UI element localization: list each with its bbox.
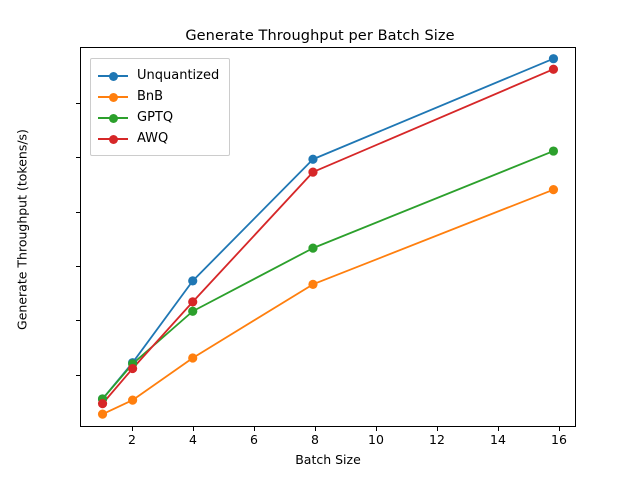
data-point-marker <box>549 185 558 194</box>
x-tick-mark <box>376 427 377 431</box>
series-line <box>103 151 554 399</box>
legend-label: Unquantized <box>137 68 219 83</box>
x-tick-mark <box>498 427 499 431</box>
legend-marker-icon <box>98 132 128 146</box>
data-point-marker <box>549 54 558 63</box>
x-tick-label: 12 <box>417 432 457 447</box>
legend-item[interactable]: GPTQ <box>98 107 219 128</box>
legend-marker-icon <box>98 69 128 83</box>
legend-label: GPTQ <box>137 110 173 125</box>
data-point-marker <box>188 297 197 306</box>
data-point-marker <box>98 399 107 408</box>
data-point-marker <box>308 168 317 177</box>
data-point-marker <box>98 410 107 419</box>
legend-label: AWQ <box>137 131 168 146</box>
x-tick-mark <box>437 427 438 431</box>
x-tick-mark <box>132 427 133 431</box>
data-point-marker <box>128 396 137 405</box>
x-tick-mark <box>315 427 316 431</box>
data-point-marker <box>188 276 197 285</box>
legend-marker-icon <box>98 90 128 104</box>
legend-label: BnB <box>137 89 163 104</box>
data-point-marker <box>549 146 558 155</box>
x-tick-label: 6 <box>234 432 274 447</box>
legend-item[interactable]: AWQ <box>98 128 219 149</box>
legend-marker-icon <box>98 111 128 125</box>
x-axis-label: Batch Size <box>80 452 576 467</box>
matplotlib-figure: Generate Throughput per Batch Size 50 10… <box>0 0 640 480</box>
x-tick-mark <box>193 427 194 431</box>
y-axis-label: Generate Throughput (tokens/s) <box>15 65 30 395</box>
x-tick-mark <box>559 427 560 431</box>
x-tick-label: 8 <box>295 432 335 447</box>
data-point-marker <box>188 307 197 316</box>
data-point-marker <box>308 280 317 289</box>
series-line <box>103 190 554 414</box>
legend: Unquantized BnB GPTQ AWQ <box>90 58 230 156</box>
x-tick-label: 14 <box>478 432 518 447</box>
data-point-marker <box>128 364 137 373</box>
data-point-marker <box>188 353 197 362</box>
data-point-marker <box>549 65 558 74</box>
x-tick-label: 16 <box>539 432 579 447</box>
x-tick-label: 4 <box>173 432 213 447</box>
x-tick-label: 2 <box>112 432 152 447</box>
legend-item[interactable]: Unquantized <box>98 65 219 86</box>
data-point-marker <box>308 244 317 253</box>
x-tick-label: 10 <box>356 432 396 447</box>
legend-item[interactable]: BnB <box>98 86 219 107</box>
x-tick-mark <box>254 427 255 431</box>
data-point-marker <box>308 155 317 164</box>
